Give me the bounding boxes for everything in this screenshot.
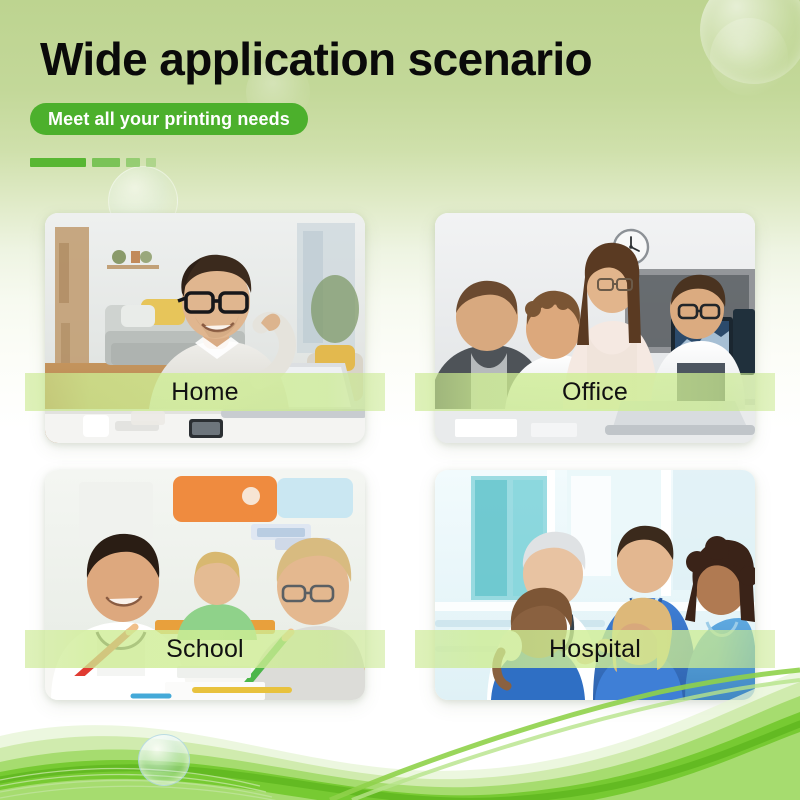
bubble-icon-on-wave	[138, 734, 190, 786]
dash-3	[126, 158, 140, 167]
scenario-card-hospital[interactable]: Hospital	[435, 470, 755, 700]
decorative-dash-row	[30, 158, 156, 167]
dash-4	[146, 158, 156, 167]
bubble-icon-top-right-small	[710, 18, 788, 96]
scenario-card-grid: Home	[45, 213, 755, 700]
scenario-photo-home	[45, 213, 365, 443]
scenario-photo-school	[45, 470, 365, 700]
subtitle-badge: Meet all your printing needs	[30, 103, 308, 135]
scenario-card-home[interactable]: Home	[45, 213, 365, 443]
bubble-icon-top-right	[700, 0, 800, 84]
page-title: Wide application scenario	[40, 36, 592, 82]
subtitle-badge-label: Meet all your printing needs	[48, 109, 290, 130]
dash-1	[30, 158, 86, 167]
scenario-photo-hospital	[435, 470, 755, 700]
scenario-photo-office	[435, 213, 755, 443]
dash-2	[92, 158, 120, 167]
scenario-card-school[interactable]: School	[45, 470, 365, 700]
poster-canvas: Wide application scenario Meet all your …	[0, 0, 800, 800]
scenario-card-office[interactable]: Office	[435, 213, 755, 443]
